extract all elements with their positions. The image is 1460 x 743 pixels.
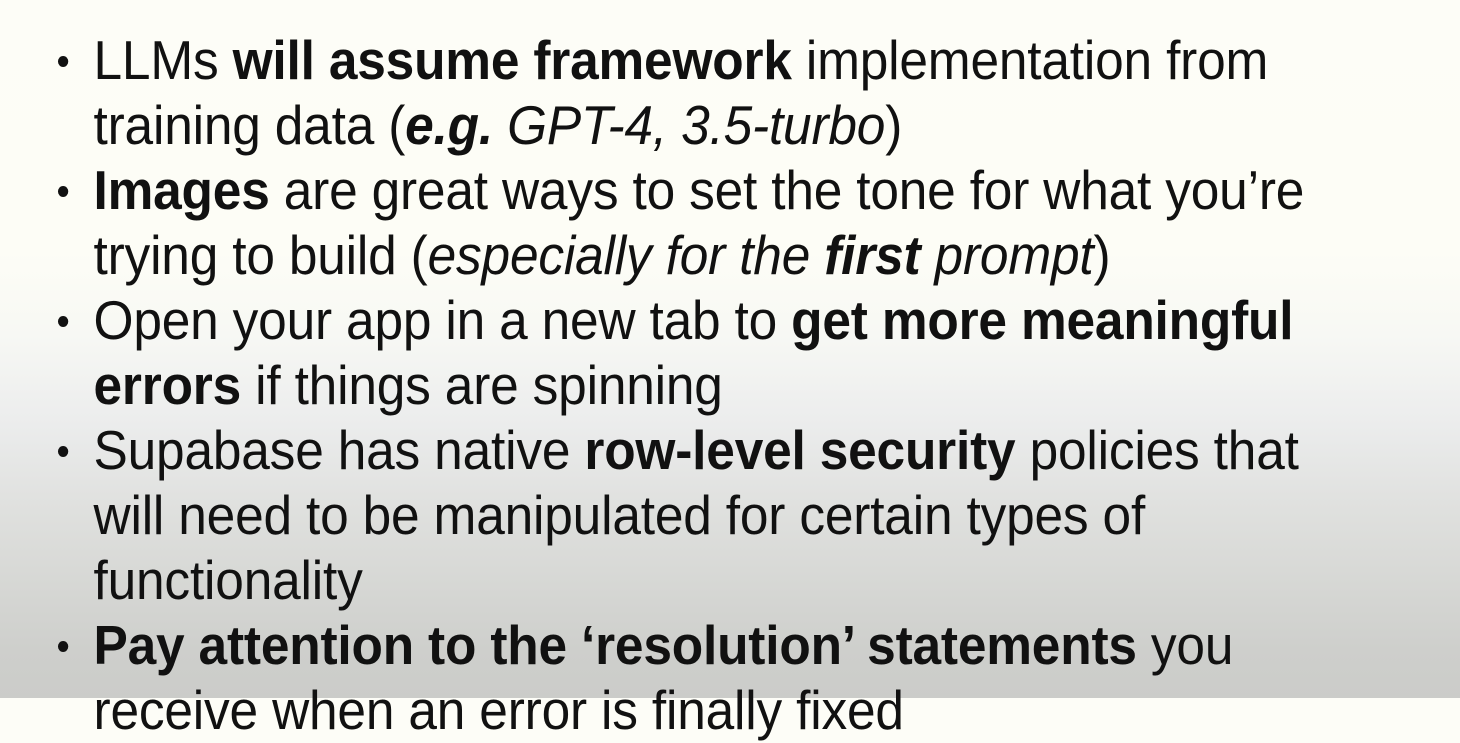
- text-run: especially for the: [428, 224, 825, 286]
- bullet-text: Supabase has native row-level security p…: [94, 419, 1299, 611]
- bullet-text: Open your app in a new tab to get more m…: [94, 289, 1294, 416]
- bullet-item: LLMs will assume framework implementatio…: [0, 28, 1346, 158]
- bullet-item: Supabase has native row-level security p…: [0, 418, 1346, 613]
- text-run: row-level security: [584, 419, 1015, 481]
- slide-canvas: LLMs will assume framework implementatio…: [0, 0, 1460, 698]
- text-run: ): [885, 94, 902, 156]
- text-run: Supabase has native: [94, 419, 585, 481]
- text-run: e.g.: [405, 94, 493, 156]
- text-run: Open your app in a new tab to: [94, 289, 792, 351]
- bullet-text: Images are great ways to set the tone fo…: [94, 159, 1305, 286]
- text-run: ): [1093, 224, 1110, 286]
- text-run: Pay attention to the ‘resolution’ statem…: [94, 614, 1137, 676]
- bullet-item: Pay attention to the ‘resolution’ statem…: [0, 613, 1346, 743]
- bullet-dot-icon: [58, 316, 68, 327]
- text-run: if things are spinning: [241, 354, 723, 416]
- bullet-dot-icon: [58, 446, 68, 457]
- text-run: Images: [94, 159, 270, 221]
- bullet-text: Pay attention to the ‘resolution’ statem…: [94, 614, 1234, 741]
- bullet-item: Open your app in a new tab to get more m…: [0, 288, 1346, 418]
- bullet-list: LLMs will assume framework implementatio…: [0, 28, 1440, 743]
- text-run: prompt: [920, 224, 1093, 286]
- text-run: GPT-4, 3.5-turbo: [493, 94, 885, 156]
- text-run: first: [824, 224, 920, 286]
- bullet-dot-icon: [58, 56, 68, 67]
- bullet-dot-icon: [58, 641, 68, 652]
- bullet-item: Images are great ways to set the tone fo…: [0, 158, 1346, 288]
- bullet-dot-icon: [58, 186, 68, 197]
- text-run: will assume framework: [233, 29, 792, 91]
- bullet-text: LLMs will assume framework implementatio…: [94, 29, 1269, 156]
- text-run: LLMs: [94, 29, 233, 91]
